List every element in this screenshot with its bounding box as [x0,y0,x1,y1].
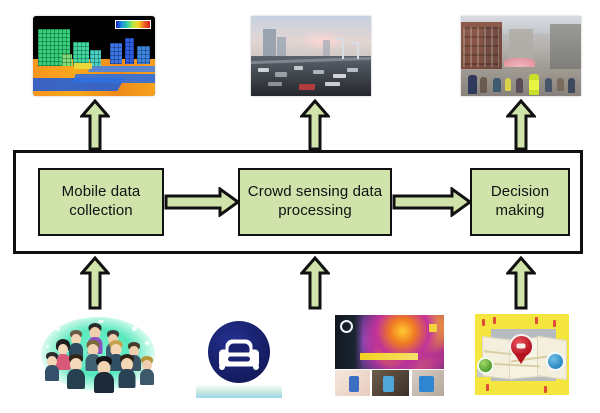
smog-car [325,82,339,87]
streetlamp-icon [357,42,359,59]
pedestrian [557,78,564,91]
phone-photo [372,370,409,396]
process-step-processing[interactable]: Crowd sensing data processing [238,168,392,236]
phone-photo [412,370,444,396]
thermal-building [90,50,101,66]
crowd-person [94,357,114,393]
output-arrow-up-process [300,99,330,151]
smog-building [323,40,330,58]
diagram-canvas: Mobile data collection Crowd sensing dat… [0,0,600,413]
thermal-hotspot-patch [74,63,91,69]
street-tent [504,58,535,68]
thermal-building [137,46,150,64]
input-image-vehicle-sign [196,312,282,398]
smog-car [313,70,324,74]
crowd-person [119,355,136,388]
thermal-building [110,43,122,64]
crowd-sparkle [98,320,104,323]
process-step-collect-label: Mobile data collection [40,183,162,221]
map-tick [493,317,496,324]
map-pin-blue-icon [546,352,565,371]
thermal-road-c [88,66,155,72]
heatmap-label-bar [360,353,418,360]
smog-car [268,82,282,87]
pedestrian [516,78,523,93]
output-arrow-up-decision [506,99,536,151]
pedestrian-safety-vest [529,74,539,96]
process-step-collect[interactable]: Mobile data collection [38,168,164,236]
thermal-road-b [73,74,155,83]
map-tick [544,386,547,393]
output-image-crowded-street [461,16,581,96]
colorbar-legend-icon [115,20,151,29]
input-arrow-up-1 [80,256,110,310]
map-tick [535,317,538,324]
car-roof [226,339,253,352]
smog-car [258,68,269,72]
input-image-people-crowd [33,312,163,398]
car-window [228,357,250,362]
map-tick [482,319,485,326]
pedestrian [493,78,500,92]
smog-car [333,74,346,79]
output-image-smog-traffic [251,16,371,96]
map-tick [553,320,556,327]
crowd-sparkle [132,326,137,331]
square-marker-icon [429,324,437,332]
pedestrian [568,78,575,93]
crowd-person [140,357,154,385]
map-pin-red-icon [509,334,534,359]
process-step-decision[interactable]: Decision making [470,168,570,236]
process-step-decision-label: Decision making [472,183,568,221]
street-window-grid [463,27,499,67]
phone-photo [335,370,370,396]
phone-screen [383,376,394,393]
pedestrian [505,78,511,91]
input-arrow-up-2 [300,256,330,310]
pedestrian [468,75,476,94]
pedestrian [545,78,552,92]
input-image-paper-map-pin [466,312,578,398]
map-tick [486,384,489,391]
car-wheel-right [253,364,259,370]
output-image-thermal-city-map [33,16,155,96]
phone-screen [349,376,359,393]
input-arrow-up-3 [506,256,536,310]
crowd-person [45,353,59,381]
smog-building [263,29,276,59]
smog-car [275,72,287,77]
flow-arrow-collect-to-process [164,187,240,217]
thermal-building [62,54,72,65]
circle-marker-icon [340,320,353,333]
smog-car [347,68,358,72]
car-wheel-left [219,364,225,370]
street-building-right [550,24,581,70]
thermal-building [73,42,89,66]
smog-car [299,84,315,90]
process-step-processing-label: Crowd sensing data processing [240,183,390,221]
output-arrow-up-collect [80,99,110,151]
map-pin-green-icon [477,357,494,374]
input-image-heatmap-phones [328,312,444,398]
thermal-building [125,38,135,64]
flow-arrow-process-to-decision [392,187,472,217]
crowd-person [67,355,85,389]
pedestrian [480,77,487,93]
map-pin-center [517,344,526,349]
smog-car [294,66,302,69]
streetlamp-icon [342,38,344,59]
phone-screen [419,376,434,393]
crowd-sparkle [46,345,49,348]
